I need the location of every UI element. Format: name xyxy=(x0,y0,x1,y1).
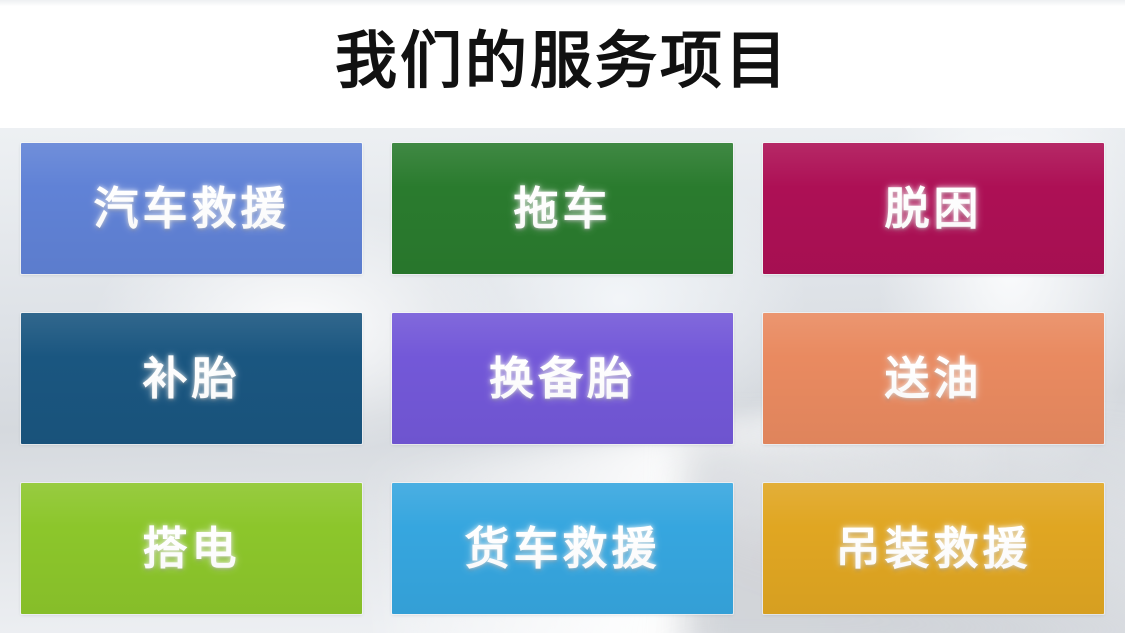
service-tile-tire-repair[interactable]: 补胎 xyxy=(21,313,362,444)
service-tile-label: 汽车救援 xyxy=(93,186,289,231)
service-tile-label: 吊装救援 xyxy=(835,526,1031,571)
service-tile-fuel-delivery[interactable]: 送油 xyxy=(763,313,1104,444)
service-poster: 我们的服务项目 汽车救援 拖车 脱困 补胎 换备胎 送油 搭电 货车救援 吊装救… xyxy=(0,0,1125,633)
top-divider xyxy=(0,0,1125,6)
service-tile-extrication[interactable]: 脱困 xyxy=(763,143,1104,274)
service-tile-label: 拖车 xyxy=(513,186,611,231)
service-tile-tow-truck[interactable]: 拖车 xyxy=(392,143,733,274)
service-tile-truck-rescue[interactable]: 货车救援 xyxy=(392,483,733,614)
service-tile-label: 搭电 xyxy=(142,526,240,571)
service-grid: 汽车救援 拖车 脱困 补胎 换备胎 送油 搭电 货车救援 吊装救援 xyxy=(21,143,1104,615)
service-tile-label: 货车救援 xyxy=(464,526,660,571)
service-tile-label: 脱困 xyxy=(884,186,982,231)
page-title: 我们的服务项目 xyxy=(0,22,1125,102)
service-tile-label: 补胎 xyxy=(142,356,240,401)
service-tile-jump-start[interactable]: 搭电 xyxy=(21,483,362,614)
service-tile-car-rescue[interactable]: 汽车救援 xyxy=(21,143,362,274)
service-tile-label: 送油 xyxy=(884,356,982,401)
service-tile-label: 换备胎 xyxy=(489,356,636,401)
service-tile-spare-tire-change[interactable]: 换备胎 xyxy=(392,313,733,444)
service-tile-crane-rescue[interactable]: 吊装救援 xyxy=(763,483,1104,614)
